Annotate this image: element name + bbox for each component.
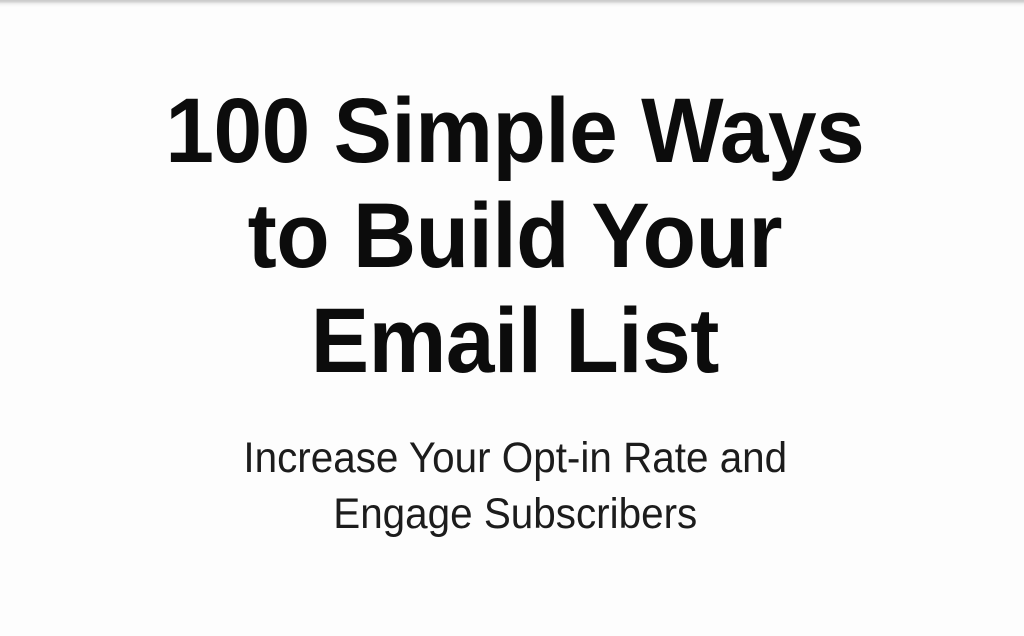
subtitle-line-2: Engage Subscribers bbox=[243, 486, 787, 542]
title-line-2: to Build Your bbox=[166, 184, 865, 289]
page-subtitle: Increase Your Opt-in Rate and Engage Sub… bbox=[226, 430, 804, 542]
page-title: 100 Simple Ways to Build Your Email List bbox=[147, 79, 883, 394]
title-line-1: 100 Simple Ways bbox=[166, 79, 865, 184]
slide-content: 100 Simple Ways to Build Your Email List… bbox=[0, 0, 1024, 636]
subtitle-line-1: Increase Your Opt-in Rate and bbox=[243, 430, 787, 486]
slide-canvas: 100 Simple Ways to Build Your Email List… bbox=[0, 0, 1024, 636]
title-line-3: Email List bbox=[166, 289, 865, 394]
